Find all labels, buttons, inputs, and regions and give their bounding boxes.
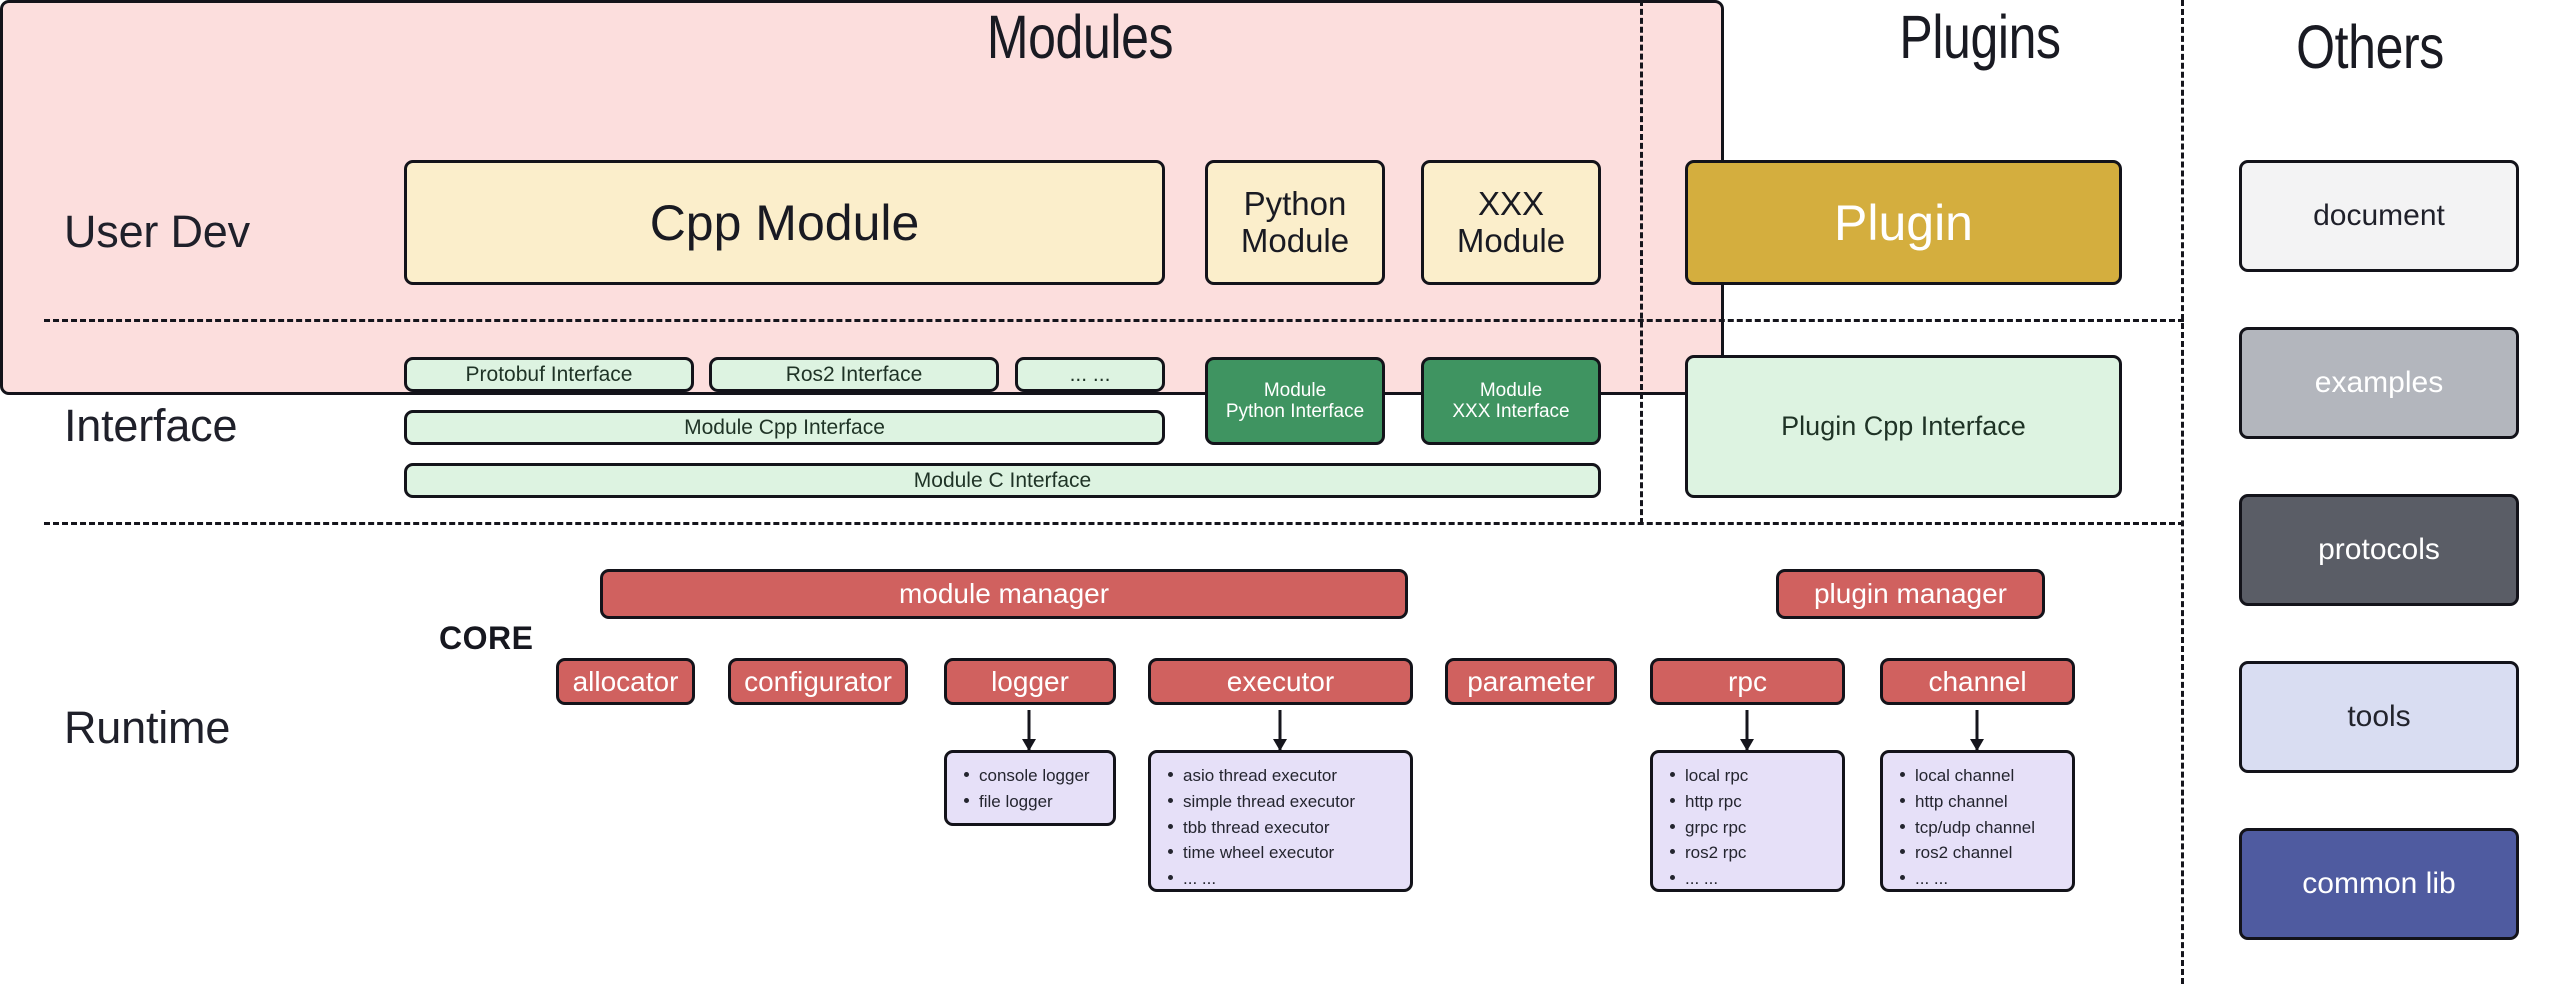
- list-item: local rpc: [1685, 763, 1748, 789]
- list-item: ... ...: [1685, 866, 1748, 892]
- listbox-executor-details: asio thread executorsimple thread execut…: [1148, 750, 1413, 892]
- node-allocator[interactable]: allocator: [556, 658, 695, 705]
- list-item: http rpc: [1685, 789, 1748, 815]
- node-plugin-manager[interactable]: plugin manager: [1776, 569, 2045, 619]
- node-protobuf-interface[interactable]: Protobuf Interface: [404, 357, 694, 392]
- listbox-rpc-details: local rpchttp rpcgrpc rpcros2 rpc... ...: [1650, 750, 1845, 892]
- divider-interface-runtime: [44, 522, 2184, 525]
- rpc-details-list: local rpchttp rpcgrpc rpcros2 rpc... ...: [1663, 763, 1748, 892]
- divider-modules-plugins: [1640, 0, 1643, 524]
- list-item: ... ...: [1183, 866, 1355, 892]
- node-tools[interactable]: tools: [2239, 661, 2519, 773]
- node-executor[interactable]: executor: [1148, 658, 1413, 705]
- list-item: grpc rpc: [1685, 815, 1748, 841]
- node-parameter[interactable]: parameter: [1445, 658, 1617, 705]
- list-item: file logger: [979, 789, 1090, 815]
- channel-details-list: local channelhttp channeltcp/udp channel…: [1893, 763, 2035, 892]
- list-item: local channel: [1915, 763, 2035, 789]
- column-header-others: Others: [2198, 12, 2542, 82]
- node-rpc[interactable]: rpc: [1650, 658, 1845, 705]
- list-item: console logger: [979, 763, 1090, 789]
- arrow-logger-to-details: [1022, 710, 1036, 750]
- node-configurator[interactable]: configurator: [728, 658, 908, 705]
- list-item: tcp/udp channel: [1915, 815, 2035, 841]
- row-header-runtime: Runtime: [64, 702, 230, 754]
- node-ros2-interface[interactable]: Ros2 Interface: [709, 357, 999, 392]
- node-protocols[interactable]: protocols: [2239, 494, 2519, 606]
- node-logger[interactable]: logger: [944, 658, 1116, 705]
- node-module-manager[interactable]: module manager: [600, 569, 1408, 619]
- list-item: time wheel executor: [1183, 840, 1355, 866]
- logger-details-list: console loggerfile logger: [957, 763, 1090, 815]
- node-common-lib[interactable]: common lib: [2239, 828, 2519, 940]
- node-examples[interactable]: examples: [2239, 327, 2519, 439]
- node-cpp-module[interactable]: Cpp Module: [404, 160, 1165, 285]
- arrow-executor-to-details: [1273, 710, 1287, 750]
- node-python-module[interactable]: Python Module: [1205, 160, 1385, 285]
- list-item: simple thread executor: [1183, 789, 1355, 815]
- core-label: CORE: [439, 620, 533, 657]
- node-more-interface[interactable]: ... ...: [1015, 357, 1165, 392]
- node-module-cpp-interface[interactable]: Module Cpp Interface: [404, 410, 1165, 445]
- column-header-plugins: Plugins: [1808, 2, 2152, 72]
- list-item: asio thread executor: [1183, 763, 1355, 789]
- row-header-user-dev: User Dev: [64, 206, 250, 258]
- listbox-logger-details: console loggerfile logger: [944, 750, 1116, 826]
- architecture-diagram: Modules Plugins Others User Dev Interfac…: [0, 0, 2560, 984]
- arrow-channel-to-details: [1970, 710, 1984, 750]
- node-plugin-cpp-interface[interactable]: Plugin Cpp Interface: [1685, 355, 2122, 498]
- node-channel[interactable]: channel: [1880, 658, 2075, 705]
- divider-userdev-interface: [44, 319, 2184, 322]
- node-document[interactable]: document: [2239, 160, 2519, 272]
- executor-details-list: asio thread executorsimple thread execut…: [1161, 763, 1355, 892]
- row-header-interface: Interface: [64, 400, 237, 452]
- column-header-modules: Modules: [834, 2, 1326, 72]
- list-item: ros2 channel: [1915, 840, 2035, 866]
- node-plugin[interactable]: Plugin: [1685, 160, 2122, 285]
- node-module-c-interface[interactable]: Module C Interface: [404, 463, 1601, 498]
- list-item: ros2 rpc: [1685, 840, 1748, 866]
- divider-plugins-others: [2181, 0, 2184, 984]
- node-xxx-module[interactable]: XXX Module: [1421, 160, 1601, 285]
- arrow-rpc-to-details: [1740, 710, 1754, 750]
- list-item: http channel: [1915, 789, 2035, 815]
- listbox-channel-details: local channelhttp channeltcp/udp channel…: [1880, 750, 2075, 892]
- list-item: ... ...: [1915, 866, 2035, 892]
- node-module-xxx-interface[interactable]: Module XXX Interface: [1421, 357, 1601, 445]
- node-module-python-interface[interactable]: Module Python Interface: [1205, 357, 1385, 445]
- list-item: tbb thread executor: [1183, 815, 1355, 841]
